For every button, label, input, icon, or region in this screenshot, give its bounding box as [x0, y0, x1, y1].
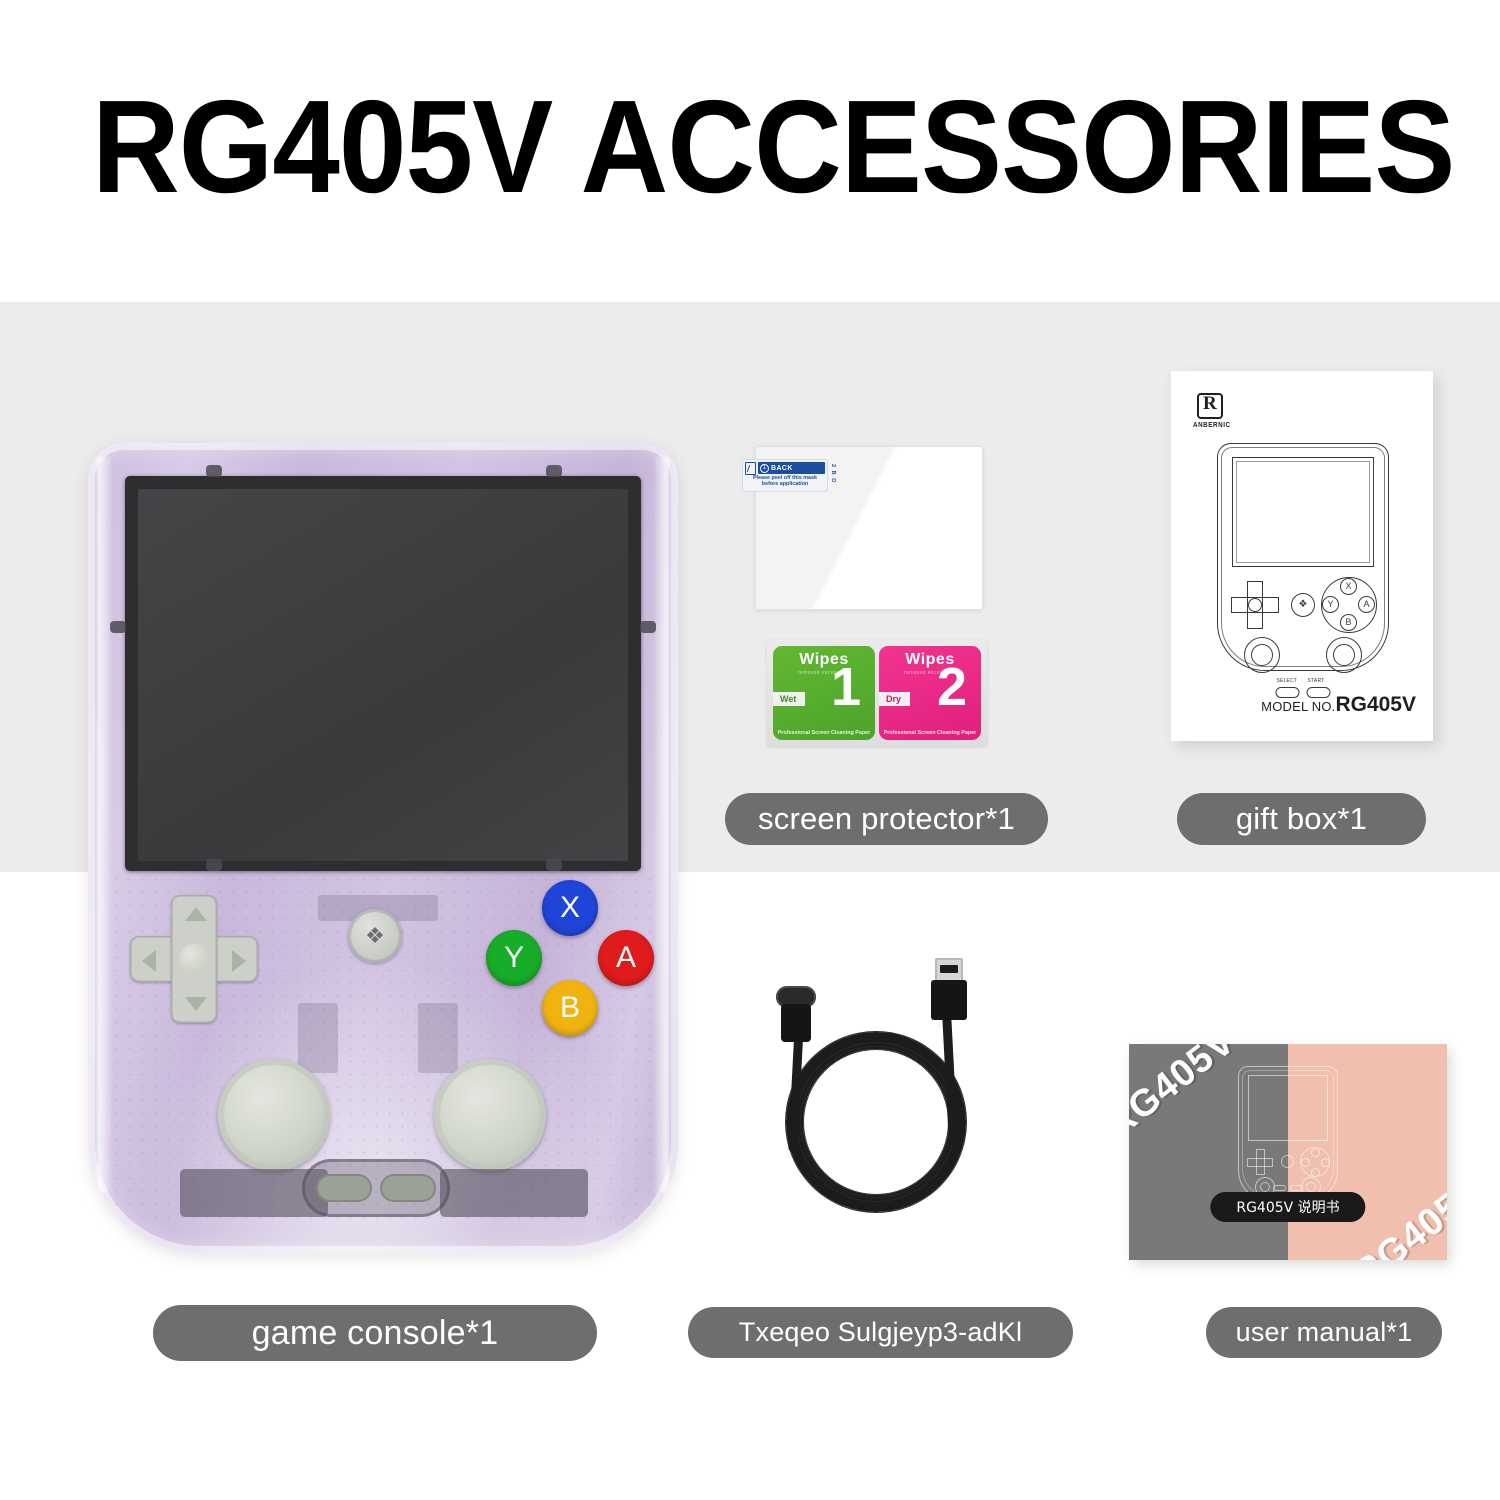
product-gift-box: ANBERNIC ❖ X Y A B SELECT START	[1171, 371, 1433, 741]
manual-title-pill: RG405V 说明书	[1210, 1192, 1365, 1222]
giftbox-face-buttons: X Y A B	[1321, 577, 1377, 633]
protector-film: 1 BACK Please peel off this mask before …	[755, 446, 983, 610]
console-analog-stick-left[interactable]	[218, 1059, 330, 1171]
manual-button-a	[1321, 1158, 1330, 1167]
wipe-wet: Wipes removes excess dirt 1 Wet Professi…	[773, 646, 875, 740]
console-chip	[298, 1003, 338, 1073]
wipe-footer: Professional Screen Cleaning Paper	[773, 730, 875, 736]
console-select-start-pod	[302, 1159, 450, 1217]
anbernic-logo: ANBERNIC	[1193, 393, 1251, 429]
usb-a-connector-icon	[928, 958, 970, 1020]
wipe-dry: Wipes removes excess dirt 2 Dry Professi…	[879, 646, 981, 740]
console-function-button[interactable]: ❖	[348, 909, 402, 963]
console-chip	[418, 1003, 458, 1073]
giftbox-button-y: Y	[1322, 596, 1339, 613]
manual-dpad-icon	[1247, 1149, 1273, 1175]
giftbox-button-b: B	[1340, 614, 1357, 631]
wipe-tag: Wet	[773, 692, 805, 706]
caption-cable: Txeqeo Sulgjeyp3-adKl	[688, 1307, 1073, 1358]
giftbox-button-a: A	[1358, 596, 1375, 613]
giftbox-console-line-art: ❖ X Y A B SELECT START	[1217, 443, 1389, 671]
face-button-b[interactable]: B	[542, 980, 598, 1036]
giftbox-model-number: RG405V	[1335, 693, 1416, 716]
giftbox-stick-left	[1244, 637, 1280, 673]
peel-tab-edge-marks: 2 B O	[830, 464, 836, 483]
cable-coil	[786, 1032, 966, 1212]
peel-tab-note: Please peel off this mask before applica…	[745, 474, 825, 487]
console-dpad[interactable]	[130, 895, 258, 1023]
giftbox-console-screen	[1232, 457, 1374, 567]
console-face-button-cluster: X Y A B	[486, 880, 654, 1048]
manual-console-line-art	[1238, 1066, 1338, 1202]
manual-function-button-icon	[1281, 1155, 1294, 1168]
manual-button-b	[1311, 1168, 1320, 1177]
dpad-up-arrow-icon	[185, 907, 207, 921]
console-screw	[110, 621, 126, 633]
product-game-console: ❖ X Y A B	[88, 443, 678, 1253]
console-start-button[interactable]	[380, 1174, 436, 1202]
giftbox-start-label: START	[1308, 678, 1325, 684]
console-screen-panel	[138, 489, 628, 861]
manual-face-buttons	[1300, 1147, 1330, 1177]
console-screw	[640, 621, 656, 633]
peel-hand-icon	[745, 462, 756, 475]
console-body: ❖ X Y A B	[88, 443, 678, 1253]
face-button-x[interactable]: X	[542, 880, 598, 936]
cleaning-wipes-pack: Wipes removes excess dirt 1 Wet Professi…	[767, 640, 987, 746]
peel-tab-bar: 1 BACK	[758, 462, 825, 474]
page-title: RG405V ACCESSORIES	[92, 84, 1325, 209]
product-user-manual: RG405V RG405V RG405V 说明书	[1129, 1044, 1447, 1260]
console-screw	[206, 465, 222, 477]
peel-tab-side-label: BACK	[771, 465, 793, 472]
peel-step-number: 1	[760, 464, 769, 473]
product-usb-cable	[748, 944, 996, 1260]
dpad-left-arrow-icon	[142, 950, 156, 972]
giftbox-button-x: X	[1340, 578, 1357, 595]
manual-select-start	[1273, 1185, 1303, 1191]
protector-peel-tab: 1 BACK Please peel off this mask before …	[742, 459, 828, 492]
giftbox-stick-right	[1326, 637, 1362, 673]
face-button-a[interactable]: A	[598, 930, 654, 986]
anbernic-mark-icon	[1197, 393, 1223, 419]
caption-screen-protector: screen protector*1	[725, 793, 1048, 845]
caption-user-manual: user manual*1	[1206, 1307, 1442, 1358]
product-screen-protector: 1 BACK Please peel off this mask before …	[755, 446, 987, 756]
console-screw	[546, 859, 562, 871]
giftbox-function-button-icon: ❖	[1291, 593, 1315, 617]
dpad-right-arrow-icon	[232, 950, 246, 972]
console-select-button[interactable]	[316, 1174, 372, 1202]
face-button-y[interactable]: Y	[486, 930, 542, 986]
console-analog-stick-right[interactable]	[434, 1059, 546, 1171]
giftbox-dpad-icon	[1231, 581, 1279, 629]
console-screw	[206, 859, 222, 871]
wipe-number: 1	[831, 660, 861, 714]
giftbox-dpad-center	[1248, 598, 1262, 612]
wipe-tag: Dry	[879, 692, 910, 706]
usb-c-body	[781, 1004, 811, 1042]
anbernic-brand-name: ANBERNIC	[1193, 422, 1245, 429]
manual-start-key	[1290, 1185, 1303, 1191]
caption-gift-box: gift box*1	[1177, 793, 1426, 845]
wipe-number: 2	[937, 660, 967, 714]
giftbox-model-line: MODEL NO.RG405V	[1261, 693, 1416, 717]
manual-button-y	[1301, 1158, 1310, 1167]
console-grip-right	[440, 1169, 588, 1217]
wipe-footer: Professional Screen Cleaning Paper	[879, 730, 981, 736]
giftbox-select-label: SELECT	[1277, 678, 1298, 684]
manual-button-x	[1311, 1148, 1320, 1157]
console-screen	[125, 476, 641, 871]
dpad-down-arrow-icon	[185, 997, 207, 1011]
manual-dpad-v	[1256, 1149, 1265, 1175]
manual-select-key	[1273, 1185, 1286, 1191]
caption-game-console: game console*1	[153, 1305, 597, 1361]
console-edge-left	[97, 457, 111, 1193]
console-edge-right	[655, 457, 669, 1193]
usb-c-connector-icon	[776, 986, 816, 1042]
usb-a-body	[931, 980, 967, 1020]
manual-console-screen	[1248, 1075, 1328, 1141]
dpad-center	[179, 944, 209, 974]
giftbox-console-screen-inner	[1236, 461, 1370, 563]
peel-tab-header: 1 BACK	[745, 462, 825, 474]
console-screw	[546, 465, 562, 477]
giftbox-model-prefix: MODEL NO.	[1261, 699, 1335, 714]
